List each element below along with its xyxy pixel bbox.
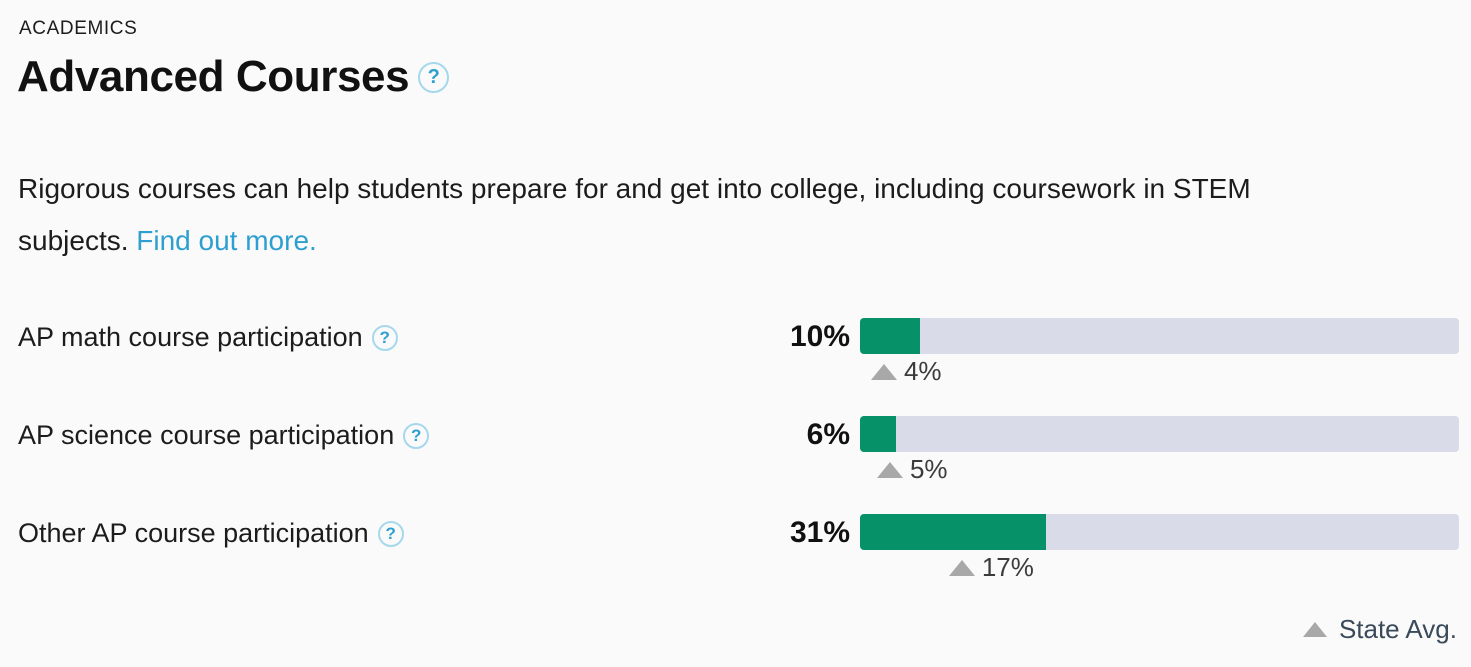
advanced-courses-panel: ACADEMICS Advanced Courses ? Rigorous co… <box>0 0 1471 667</box>
metric-value-row-2: 6% <box>660 418 850 452</box>
metric-row: Other AP course participation ? 31% 17% <box>0 502 1471 600</box>
metric-bar-row-1: 4% <box>860 306 1459 404</box>
metric-label-row-2: AP science course participation ? <box>18 420 429 451</box>
metric-label-text: AP math course participation <box>18 322 363 353</box>
bar-fill <box>860 318 920 354</box>
metric-row: AP science course participation ? 6% 5% <box>0 404 1471 502</box>
state-avg-value: 17% <box>982 552 1034 583</box>
bar-track <box>860 318 1459 354</box>
page-title-row: Advanced Courses ? <box>17 55 449 99</box>
legend-label: State Avg. <box>1339 614 1457 645</box>
bar-track <box>860 416 1459 452</box>
metric-value-row-1: 10% <box>660 320 850 354</box>
metric-row: AP math course participation ? 10% 4% <box>0 306 1471 404</box>
state-avg-marker-row-3: 17% <box>949 552 1034 583</box>
state-avg-value: 4% <box>904 356 942 387</box>
bar-fill <box>860 514 1046 550</box>
metric-help-icon[interactable]: ? <box>372 325 398 351</box>
metrics-list: AP math course participation ? 10% 4% AP… <box>0 306 1471 600</box>
find-out-more-link[interactable]: Find out more. <box>136 225 317 256</box>
metric-bar-row-2: 5% <box>860 404 1459 502</box>
section-description: Rigorous courses can help students prepa… <box>18 163 1308 267</box>
bar-track <box>860 514 1459 550</box>
title-help-icon[interactable]: ? <box>418 62 449 93</box>
metric-label-text: AP science course participation <box>18 420 394 451</box>
state-avg-marker-row-1: 4% <box>871 356 942 387</box>
metric-value-row-3: 31% <box>660 516 850 550</box>
section-eyebrow: ACADEMICS <box>19 18 137 40</box>
metric-bar-row-3: 17% <box>860 502 1459 600</box>
metric-label-row-3: Other AP course participation ? <box>18 518 404 549</box>
page-title: Advanced Courses <box>17 55 409 99</box>
metric-help-icon[interactable]: ? <box>403 423 429 449</box>
triangle-up-icon <box>949 560 975 576</box>
chart-legend: State Avg. <box>1303 614 1457 645</box>
metric-help-icon[interactable]: ? <box>378 521 404 547</box>
state-avg-marker-row-2: 5% <box>877 454 948 485</box>
triangle-up-icon <box>1303 622 1327 637</box>
triangle-up-icon <box>871 364 897 380</box>
metric-label-text: Other AP course participation <box>18 518 369 549</box>
metric-label-row-1: AP math course participation ? <box>18 322 398 353</box>
triangle-up-icon <box>877 462 903 478</box>
state-avg-value: 5% <box>910 454 948 485</box>
bar-fill <box>860 416 896 452</box>
